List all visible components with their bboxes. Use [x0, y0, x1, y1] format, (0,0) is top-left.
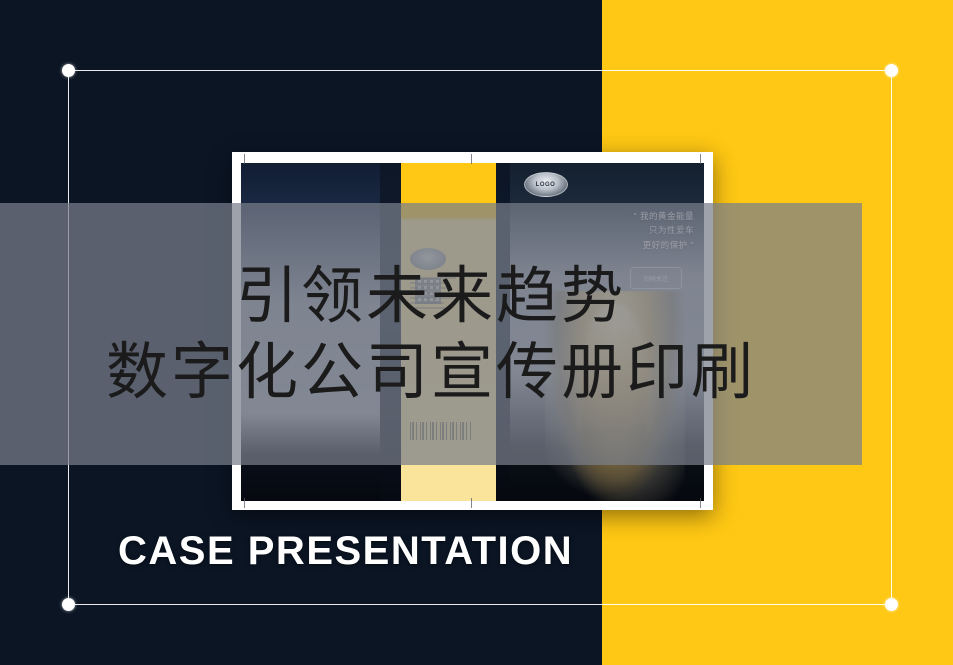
- slide-canvas: LOGO " 我的黄金能量 只为性爱车 更好的保护 " 扫码关注 引领未来趋势 …: [0, 0, 953, 665]
- brand-logo-text: LOGO: [536, 182, 556, 188]
- caption-line-2: 数字化公司宣传册印刷: [106, 341, 756, 403]
- brand-logo-icon: LOGO: [524, 172, 568, 197]
- crop-mark-bottom-left: [244, 498, 245, 508]
- caption-overlay-band: 引领未来趋势 数字化公司宣传册印刷: [0, 203, 862, 465]
- page-title: CASE PRESENTATION: [118, 529, 573, 574]
- crop-mark-top-center: [471, 154, 472, 164]
- caption-line-1: 引领未来趋势: [236, 265, 626, 327]
- crop-mark-top-left: [244, 154, 245, 164]
- crop-mark-top-right: [700, 154, 701, 164]
- crop-mark-bottom-right: [700, 498, 701, 508]
- crop-mark-bottom-center: [471, 498, 472, 508]
